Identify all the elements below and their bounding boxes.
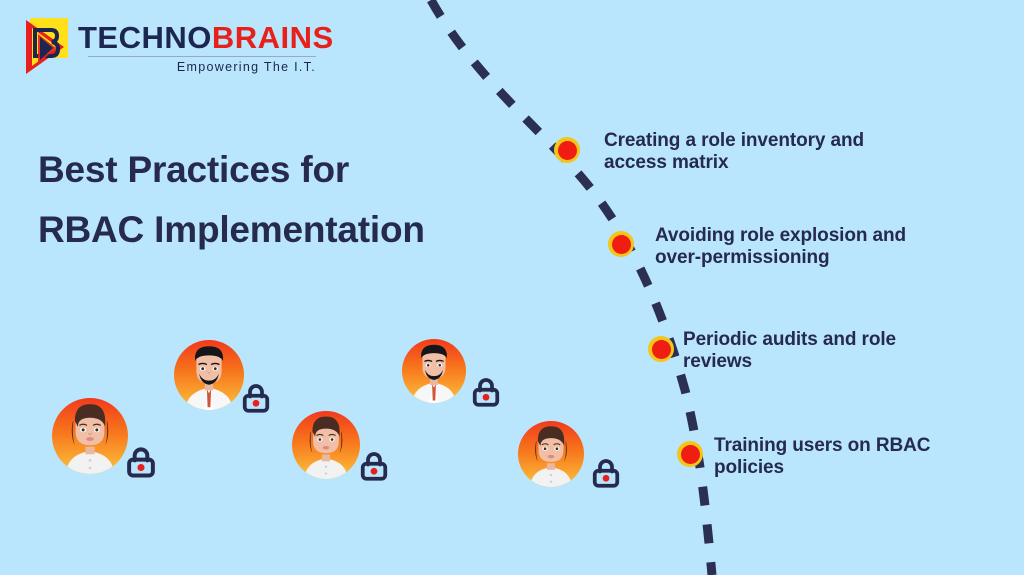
brand-word-brains: BRAINS xyxy=(212,20,334,55)
page-title: Best Practices for RBAC Implementation xyxy=(38,140,425,260)
bullet-label-2-line1: Avoiding role explosion and xyxy=(655,225,906,246)
brand-wordmark: TECHNOBRAINS Empowering The I.T. xyxy=(78,16,334,74)
female-user-avatar-icon xyxy=(518,421,584,487)
page-title-line1: Best Practices for xyxy=(38,149,349,190)
female-user-avatar-icon xyxy=(52,398,128,474)
bullet-marker-4[interactable] xyxy=(677,441,703,467)
male-user-avatar-icon xyxy=(402,339,466,403)
bullet-label-4: Training users on RBAC policies xyxy=(714,435,1014,480)
brand-word-techno: TECHNO xyxy=(78,20,212,55)
bullet-label-4-line1: Training users on RBAC xyxy=(714,435,930,456)
bullet-label-2-line2: over-permissioning xyxy=(655,247,830,268)
female-user-avatar-icon xyxy=(292,411,360,479)
red-dot-marker-icon xyxy=(612,235,631,254)
padlock-icon xyxy=(238,380,274,416)
bullet-label-1: Creating a role inventory and access mat… xyxy=(604,130,924,175)
poster-canvas: TECHNOBRAINS Empowering The I.T. Best Pr… xyxy=(0,0,1024,575)
technobrains-b-mark-icon xyxy=(18,16,74,78)
red-dot-marker-icon xyxy=(558,141,577,160)
padlock-icon xyxy=(122,443,160,481)
bullet-label-1-line1: Creating a role inventory and xyxy=(604,130,864,151)
red-dot-marker-icon xyxy=(681,445,700,464)
bullet-marker-1[interactable] xyxy=(554,137,580,163)
padlock-icon xyxy=(468,374,504,410)
brand-tagline: Empowering The I.T. xyxy=(78,60,316,74)
bullet-marker-3[interactable] xyxy=(648,336,674,362)
brand-logo[interactable]: TECHNOBRAINS Empowering The I.T. xyxy=(18,16,334,78)
padlock-icon xyxy=(356,448,392,484)
bullet-label-3: Periodic audits and role reviews xyxy=(683,329,983,374)
bullet-label-1-line2: access matrix xyxy=(604,152,728,173)
bullet-marker-2[interactable] xyxy=(608,231,634,257)
dashed-curve-path-icon xyxy=(0,0,1024,575)
brand-divider xyxy=(88,56,316,57)
male-user-avatar-icon xyxy=(174,340,244,410)
bullet-label-2: Avoiding role explosion and over-permiss… xyxy=(655,225,975,270)
bullet-label-4-line2: policies xyxy=(714,457,784,478)
page-title-line2: RBAC Implementation xyxy=(38,200,425,260)
bullet-label-3-line2: reviews xyxy=(683,351,752,372)
red-dot-marker-icon xyxy=(652,340,671,359)
padlock-icon xyxy=(588,455,624,491)
bullet-label-3-line1: Periodic audits and role xyxy=(683,329,896,350)
